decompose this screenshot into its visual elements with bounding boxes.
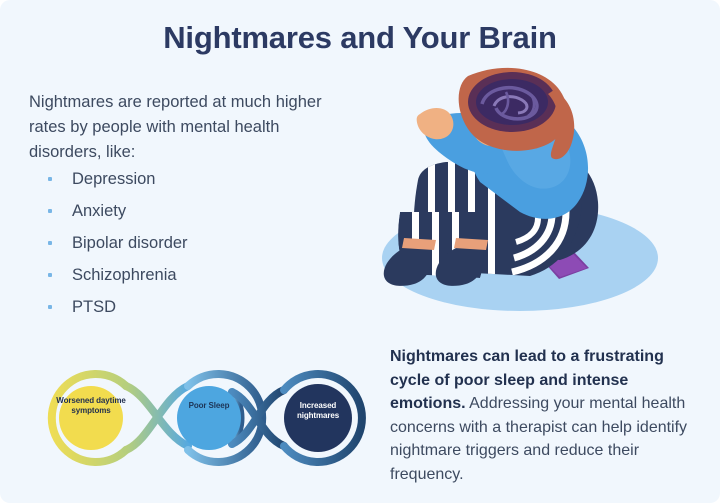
cycle-diagram: Worsened daytime symptoms Poor Sleep Inc…	[22, 352, 372, 480]
cycle-node-2	[177, 386, 241, 450]
list-item: PTSD	[44, 298, 344, 317]
bullet-dot-icon	[48, 273, 52, 277]
brain-swirl	[468, 72, 556, 132]
list-item-label: Schizophrenia	[72, 266, 177, 284]
conclusion-paragraph: Nightmares can lead to a frustrating cyc…	[390, 345, 692, 486]
bullet-dot-icon	[48, 241, 52, 245]
list-item-label: Depression	[72, 170, 155, 188]
intro-paragraph: Nightmares are reported at much higher r…	[29, 90, 329, 165]
person-hugging-knees-illustration	[360, 62, 660, 312]
list-item: Anxiety	[44, 202, 344, 221]
list-item: Schizophrenia	[44, 266, 344, 285]
list-item-label: Anxiety	[72, 202, 126, 220]
page-title: Nightmares and Your Brain	[0, 20, 720, 56]
cycle-node-1	[59, 386, 123, 450]
left-hand	[417, 108, 454, 139]
infographic-canvas: Nightmares and Your Brain Nightmares are…	[0, 0, 720, 503]
list-item: Bipolar disorder	[44, 234, 344, 253]
list-item-label: PTSD	[72, 298, 116, 316]
disorder-list: Depression Anxiety Bipolar disorder Schi…	[44, 170, 344, 330]
list-item-label: Bipolar disorder	[72, 234, 188, 252]
cycle-node-3	[284, 384, 352, 452]
bullet-dot-icon	[48, 305, 52, 309]
list-item: Depression	[44, 170, 344, 189]
bullet-dot-icon	[48, 177, 52, 181]
bullet-dot-icon	[48, 209, 52, 213]
